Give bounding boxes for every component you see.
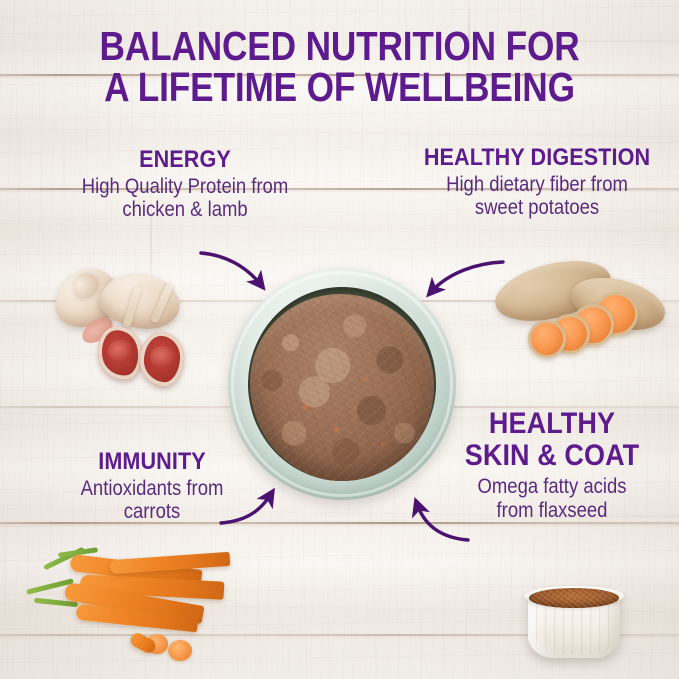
carrot-slice (168, 640, 192, 661)
callout-healthy-digestion-body-line-2: sweet potatoes (475, 196, 599, 219)
callout-healthy-skin-and-coat: HEALTHY SKIN & COAT Omega fatty acids fr… (430, 408, 674, 522)
callout-healthy-skin-and-coat-title: HEALTHY SKIN & COAT (442, 408, 662, 471)
flaxseed-pile (529, 588, 619, 608)
sweet-potato-image (488, 258, 668, 378)
lamb-marbling (149, 345, 176, 369)
chicken-knob (68, 268, 102, 302)
callout-healthy-digestion-body: High dietary fiber from sweet potatoes (416, 173, 657, 220)
callout-healthy-digestion: HEALTHY DIGESTION High dietary fiber fro… (400, 146, 674, 220)
callout-immunity-body-line-2: carrots (124, 500, 180, 523)
callout-healthy-skin-and-coat-body: Omega fatty acids from flaxseed (445, 475, 660, 522)
lamb-marbling (106, 338, 135, 363)
lamb-chop-icon (94, 323, 145, 383)
callout-energy-body: High Quality Protein from chicken & lamb (57, 175, 312, 222)
callout-immunity-body-line-1: Antioxidants from (81, 477, 224, 500)
callout-skin-body-line-2: from flaxseed (497, 499, 608, 522)
callout-healthy-digestion-body-line-1: High dietary fiber from (446, 173, 628, 196)
carrots-image (18, 548, 238, 674)
infographic-canvas: BALANCED NUTRITION FOR A LIFETIME OF WEL… (0, 0, 679, 679)
callout-skin-title-line-1: HEALTHY (489, 407, 615, 440)
sweet-potato-slice (528, 320, 566, 358)
page-title: BALANCED NUTRITION FOR A LIFETIME OF WEL… (48, 26, 632, 107)
chicken-and-lamb-image (40, 250, 215, 400)
flaxseed-texture (529, 588, 619, 608)
headline-line-2: A LIFETIME OF WELLBEING (48, 67, 632, 108)
callout-energy-body-line-1: High Quality Protein from (82, 175, 288, 198)
callout-energy: ENERGY High Quality Protein from chicken… (40, 148, 330, 222)
callout-energy-body-line-2: chicken & lamb (122, 198, 247, 221)
callout-skin-title-line-2: SKIN & COAT (465, 439, 639, 472)
callout-healthy-digestion-title: HEALTHY DIGESTION (414, 146, 661, 171)
bowl-interior (248, 287, 436, 481)
flaxseed-image (502, 560, 662, 678)
product-bowl (228, 268, 456, 502)
pate-food (250, 294, 434, 481)
ramekin-ribbing (532, 602, 616, 654)
lamb-chop-icon (138, 331, 186, 388)
callout-energy-title: ENERGY (55, 148, 316, 173)
pate-carrot-bits (250, 294, 434, 481)
headline-line-1: BALANCED NUTRITION FOR (99, 23, 579, 69)
callout-skin-body-line-1: Omega fatty acids (478, 475, 627, 498)
